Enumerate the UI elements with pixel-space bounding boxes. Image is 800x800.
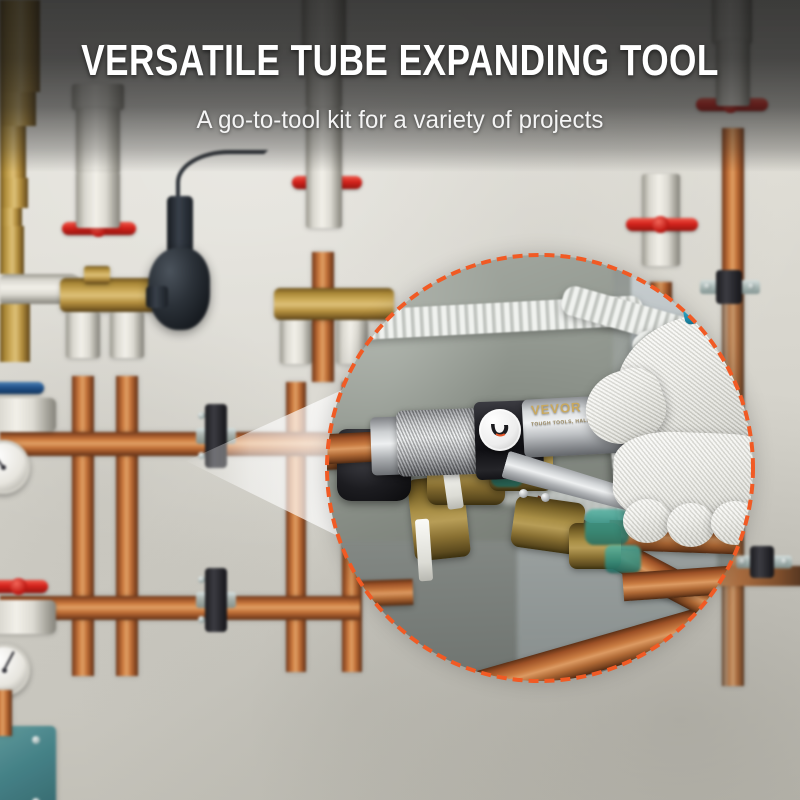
clamp-screw xyxy=(198,412,205,419)
copper-pipe xyxy=(0,690,12,736)
marketing-banner: VEVOR TOUGH TOOLS, HALF PRICE xyxy=(0,0,800,800)
glove-finger xyxy=(623,499,671,543)
zoom-callout: VEVOR TOUGH TOOLS, HALF PRICE xyxy=(327,255,753,681)
valve-body xyxy=(0,600,56,634)
lever-rivet xyxy=(541,493,550,502)
valve-body xyxy=(0,398,56,432)
page-title: VERSATILE TUBE EXPANDING TOOL xyxy=(80,39,720,83)
brass-fitting xyxy=(0,250,24,274)
valve-hub xyxy=(652,216,669,233)
copper-pipe xyxy=(0,432,360,456)
box-screw xyxy=(32,736,40,744)
page-subtitle: A go-to-tool kit for a variety of projec… xyxy=(16,107,784,135)
green-patina xyxy=(585,509,629,545)
brass-fitting xyxy=(0,304,30,334)
clamp-screw xyxy=(198,616,205,623)
pump-port xyxy=(146,286,168,308)
inset-scene: VEVOR TOUGH TOOLS, HALF PRICE xyxy=(327,255,753,681)
clamp-band xyxy=(205,404,227,468)
copper-pipe xyxy=(327,579,413,609)
gauge-pivot xyxy=(2,668,7,673)
brass-tee xyxy=(84,266,110,284)
pipe-fitting xyxy=(280,320,312,364)
vevor-logo-badge xyxy=(479,409,521,451)
lever-rivet xyxy=(519,489,528,498)
clamp-band xyxy=(205,568,227,632)
brass-fitting xyxy=(0,334,30,362)
pipe-clamp xyxy=(196,568,236,632)
callout-image-clip: VEVOR TOUGH TOOLS, HALF PRICE xyxy=(327,255,753,681)
brass-tee xyxy=(0,208,22,226)
green-patina xyxy=(605,545,641,573)
glove-finger xyxy=(711,501,753,545)
clamp-screw xyxy=(198,452,205,459)
brass-fitting xyxy=(0,178,28,208)
brass-fitting xyxy=(0,226,24,250)
valve-hub xyxy=(10,578,27,595)
gauge-pivot xyxy=(1,465,6,470)
copper-pipe xyxy=(286,382,306,672)
pipe-fitting xyxy=(76,172,120,228)
vevor-swoosh-icon xyxy=(485,415,515,445)
clamp-screw xyxy=(198,576,205,583)
electrical-box xyxy=(0,726,56,800)
pipe-clamp xyxy=(196,404,236,468)
clamp-screw xyxy=(781,558,788,565)
copper-pipe xyxy=(116,376,138,676)
pipe-fitting xyxy=(66,312,100,358)
glove-finger xyxy=(667,503,715,547)
pipe-fitting xyxy=(110,312,144,358)
header-gradient-scrim xyxy=(0,0,800,172)
copper-pipe xyxy=(72,376,94,676)
valve-handle xyxy=(0,382,44,394)
clamp-band xyxy=(750,546,774,578)
